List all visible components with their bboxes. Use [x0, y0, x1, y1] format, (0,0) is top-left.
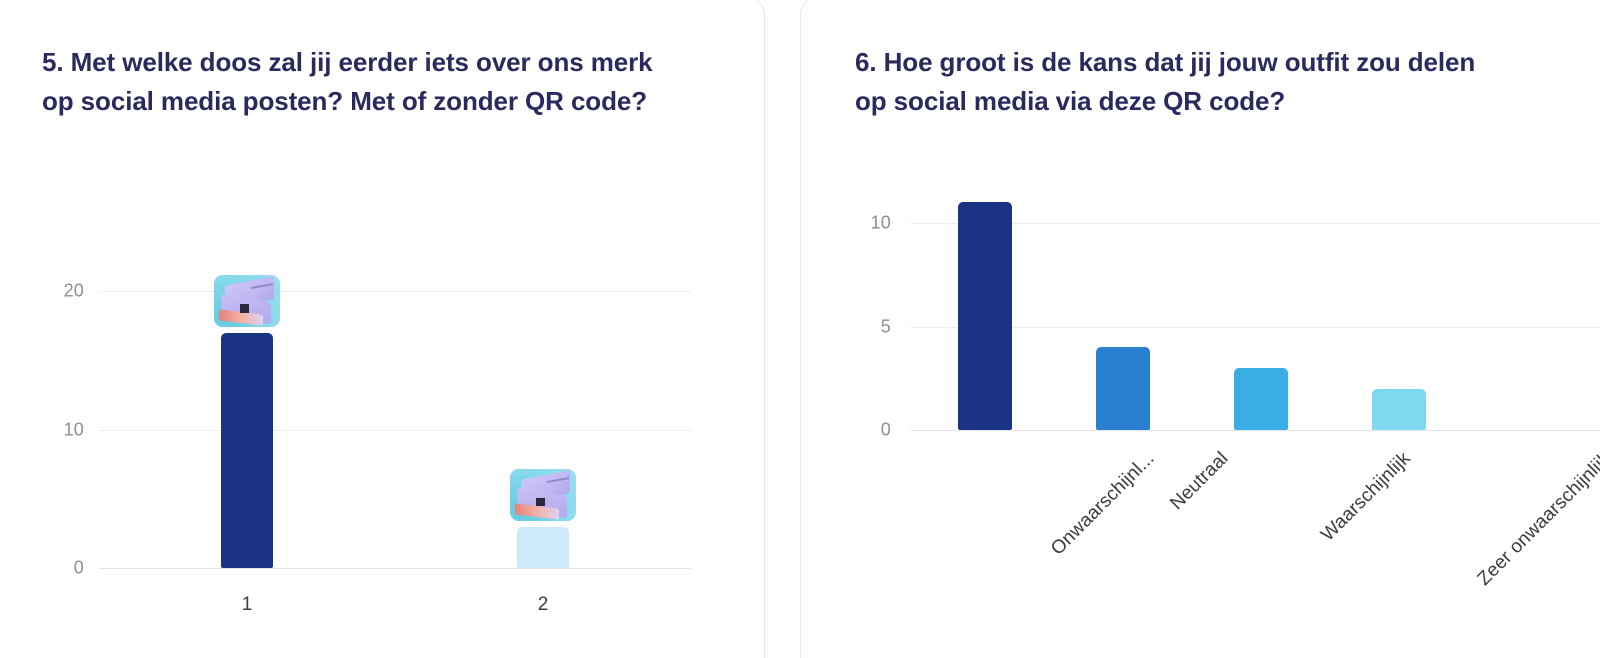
bar-1[interactable] — [221, 333, 273, 568]
bar-chart-question-6: 0510Onwaarschijnl...NeutraalWaarschijnli… — [801, 0, 1600, 653]
gridline-10 — [911, 223, 1600, 224]
bar-3[interactable] — [1234, 368, 1288, 430]
gridline-20 — [99, 291, 691, 292]
y-axis-label-0: 0 — [813, 420, 891, 441]
x-axis-label-1: Onwaarschijnl... — [1047, 448, 1159, 560]
gridline-0 — [99, 568, 691, 569]
gridline-0 — [911, 430, 1600, 431]
bar-image-thumbnail-1[interactable] — [214, 275, 280, 327]
y-axis-label-5: 5 — [813, 316, 891, 337]
charts-board: 5. Met welke doos zal jij eerder iets ov… — [0, 0, 1600, 658]
gridline-5 — [911, 327, 1600, 328]
chart-card-question-6: 6. Hoe groot is de kans dat jij jouw out… — [800, 0, 1600, 658]
bar-2[interactable] — [517, 527, 569, 568]
x-axis-label-3: Waarschijnlijk — [1317, 448, 1415, 546]
bar-4[interactable] — [1372, 389, 1426, 430]
bar-image-thumbnail-2[interactable] — [510, 469, 576, 521]
x-axis-label-2: Neutraal — [1166, 448, 1233, 515]
y-axis-label-0: 0 — [0, 558, 84, 579]
bar-chart-question-5: 0102012 — [0, 0, 765, 653]
x-axis-label-2: 2 — [538, 594, 549, 616]
x-axis-label-1: 1 — [242, 594, 253, 616]
y-axis-label-10: 10 — [0, 419, 84, 440]
plot-area-left — [99, 250, 691, 568]
gridline-10 — [99, 430, 691, 431]
chart-card-question-5: 5. Met welke doos zal jij eerder iets ov… — [0, 0, 765, 658]
y-axis-label-20: 20 — [0, 281, 84, 302]
bar-2[interactable] — [1096, 347, 1150, 430]
x-axis-label-4: Zeer onwaarschijnlijk — [1474, 448, 1600, 590]
y-axis-label-10: 10 — [813, 213, 891, 234]
bar-1[interactable] — [958, 202, 1012, 430]
